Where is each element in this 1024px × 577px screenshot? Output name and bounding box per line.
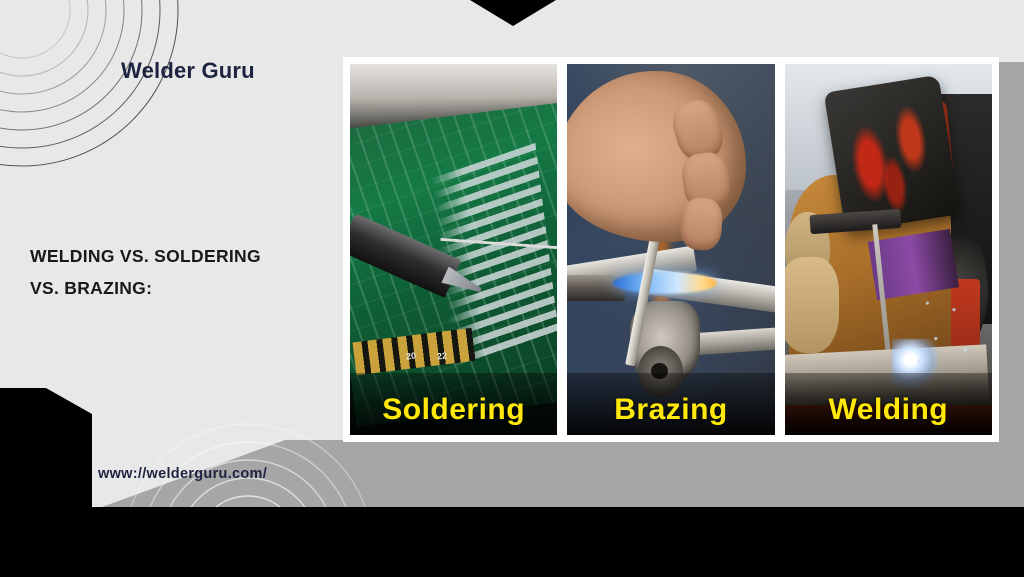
- page-title-line-2: VS. BRAZING:: [30, 272, 330, 304]
- gallery-caption-brazing: Brazing: [567, 393, 774, 427]
- gallery-panel-brazing[interactable]: Brazing: [567, 64, 774, 435]
- page-title-line-1: WELDING VS. SOLDERING: [30, 246, 261, 266]
- image-gallery-card: 20 22 Soldering: [343, 57, 999, 442]
- slide-canvas: Welder Guru WELDING VS. SOLDERING VS. BR…: [0, 0, 1024, 507]
- helmet-flame-graphics: [824, 74, 961, 231]
- welding-helmet-shape: [824, 74, 961, 231]
- welder-glove-left: [785, 257, 839, 353]
- gallery-panel-welding[interactable]: Welding: [785, 64, 992, 435]
- slide-stage: Welder Guru WELDING VS. SOLDERING VS. BR…: [0, 0, 1024, 577]
- board-marking-right: 22: [436, 350, 447, 361]
- gallery-panel-soldering[interactable]: 20 22 Soldering: [350, 64, 557, 435]
- gallery-caption-soldering: Soldering: [350, 393, 557, 427]
- gallery-caption-welding: Welding: [785, 393, 992, 427]
- welding-sparks: [905, 272, 975, 383]
- website-url[interactable]: www://welderguru.com/: [98, 466, 267, 482]
- page-title: WELDING VS. SOLDERING VS. BRAZING:: [30, 240, 330, 305]
- torch-flame-shape: [613, 272, 717, 294]
- top-triangle-accent-icon: [470, 0, 556, 26]
- board-marking-left: 20: [405, 350, 416, 361]
- brand-title: Welder Guru: [121, 58, 255, 84]
- bottom-left-black-wedge: [0, 388, 92, 507]
